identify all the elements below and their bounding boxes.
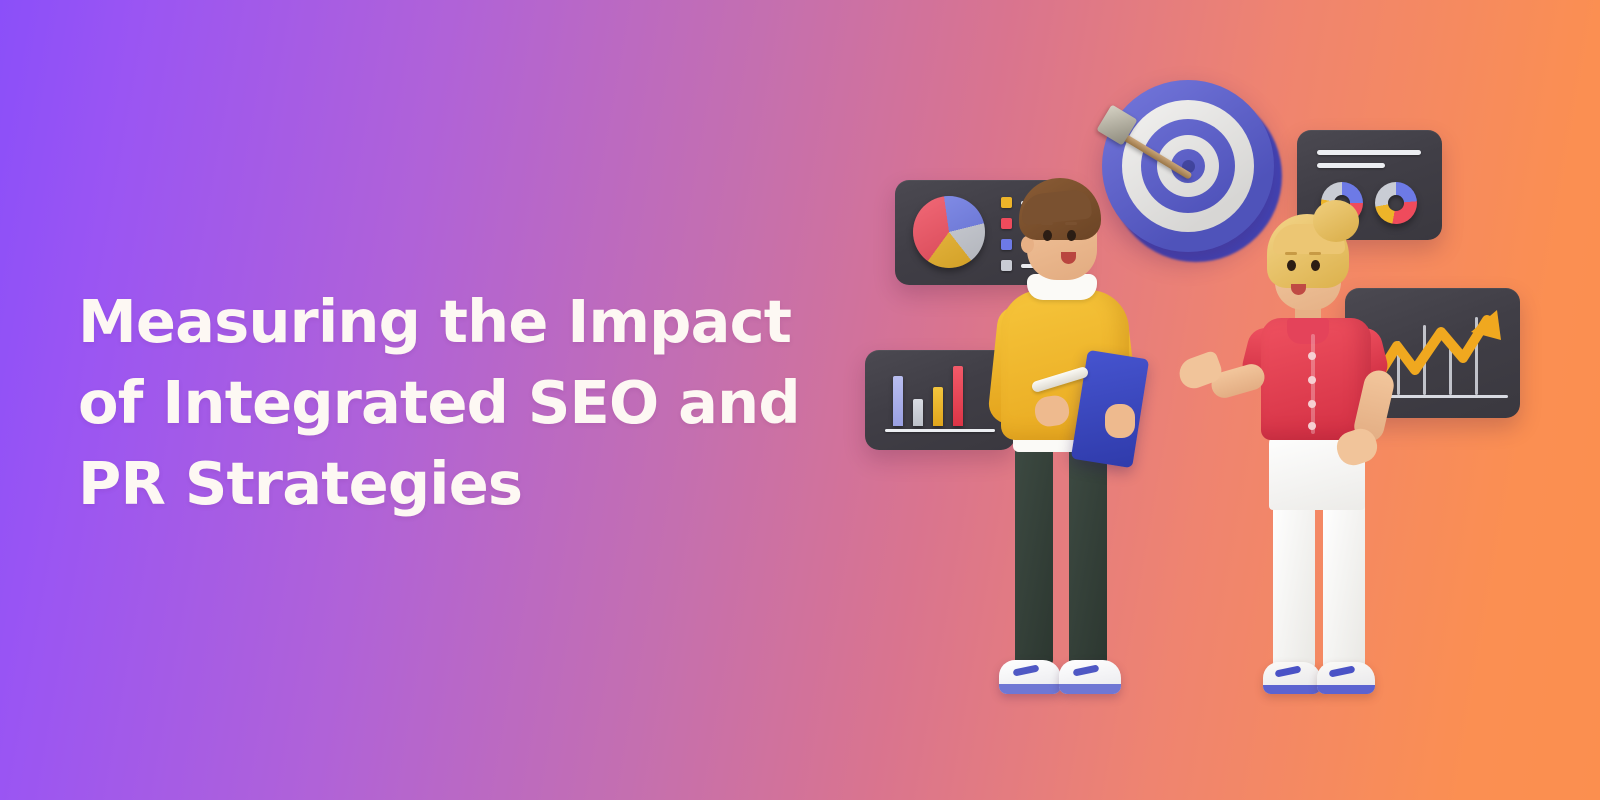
man-presenter-figure — [975, 178, 1185, 738]
shoe-lace — [1073, 664, 1100, 676]
woman-eyebrow-right — [1309, 252, 1321, 255]
title-line-1: Measuring the Impact — [78, 282, 868, 363]
woman-leg-left — [1273, 500, 1315, 670]
man-shoe-left — [999, 660, 1061, 694]
man-eye-right — [1067, 230, 1076, 241]
woman-blouse-placket — [1311, 334, 1315, 434]
shoe-sole — [999, 684, 1061, 694]
man-shoe-right — [1059, 660, 1121, 694]
bar-4 — [953, 366, 963, 426]
man-leg-left — [1015, 444, 1053, 666]
woman-blouse-collar — [1287, 318, 1329, 344]
blouse-button — [1308, 422, 1316, 430]
woman-presenter-figure — [1225, 200, 1445, 740]
card-text-line-2 — [1317, 163, 1385, 168]
shoe-lace — [1329, 665, 1356, 677]
shoe-sole — [1317, 685, 1375, 694]
bar-2 — [913, 399, 923, 426]
blouse-button — [1308, 376, 1316, 384]
bar-1 — [893, 376, 903, 426]
shoe-sole — [1059, 684, 1121, 694]
shoe-sole — [1263, 685, 1321, 694]
bar-3 — [933, 387, 943, 426]
woman-shoe-right — [1317, 662, 1375, 694]
title-line-3: PR Strategies — [78, 444, 868, 525]
bar-chart-graphic — [893, 364, 963, 426]
hero-illustration — [855, 60, 1555, 740]
shoe-lace — [1275, 665, 1302, 677]
woman-shoe-left — [1263, 662, 1321, 694]
page-title: Measuring the Impact of Integrated SEO a… — [78, 282, 868, 524]
man-eye-left — [1043, 230, 1052, 241]
woman-leg-right — [1323, 500, 1365, 670]
woman-eye-left — [1287, 260, 1296, 271]
man-hand-right — [1105, 404, 1135, 438]
shoe-lace — [1013, 664, 1040, 676]
woman-eye-right — [1311, 260, 1320, 271]
man-eyebrow-left — [1041, 222, 1053, 225]
blouse-button — [1308, 400, 1316, 408]
man-eyebrow-right — [1065, 222, 1077, 225]
title-line-2: of Integrated SEO and — [78, 363, 868, 444]
card-text-line-1 — [1317, 150, 1421, 155]
blouse-button — [1308, 352, 1316, 360]
man-leg-right — [1069, 444, 1107, 666]
woman-eyebrow-left — [1285, 252, 1297, 255]
woman-hair-bun — [1313, 200, 1359, 242]
